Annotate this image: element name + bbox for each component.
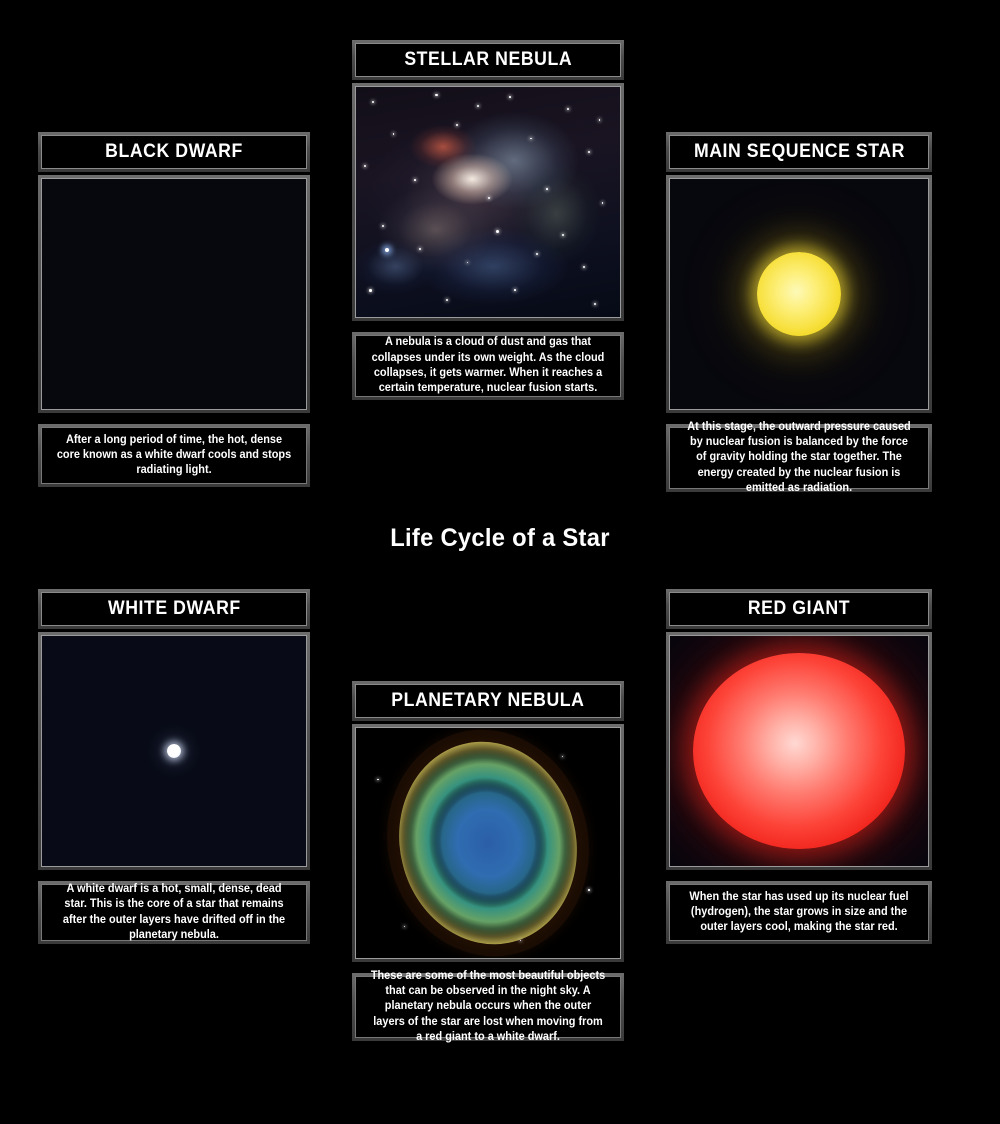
main-sequence-title-frame: MAIN SEQUENCE STAR [666,132,932,172]
white-dwarf-title-bar: WHITE DWARF [41,592,307,626]
planetary-nebula-title-frame: PLANETARY NEBULA [352,681,624,721]
planetary-nebula-artwork [355,727,621,959]
white-dwarf-art-frame [38,632,310,870]
stellar-nebula-title-bar: STELLAR NEBULA [355,43,621,77]
empty-dark-space-image [42,179,306,409]
black-dwarf-art-frame [38,175,310,413]
black-dwarf-title-bar: BLACK DWARF [41,135,307,169]
black-dwarf-title-frame: BLACK DWARF [38,132,310,172]
panel-white-dwarf[interactable]: WHITE DWARF A white dwarf is a hot, smal… [38,589,310,949]
small-white-star-image [167,744,181,758]
red-giant-title-bar: RED GIANT [669,592,929,626]
main-sequence-artwork [669,178,929,410]
red-giant-title: RED GIANT [748,598,850,620]
ring-nebula-starfield [356,728,620,958]
white-dwarf-caption: A white dwarf is a hot, small, dense, de… [56,882,292,943]
stellar-nebula-caption: A nebula is a cloud of dust and gas that… [370,335,606,396]
yellow-star-image [757,252,841,336]
black-dwarf-artwork [41,178,307,410]
stellar-nebula-caption-frame: A nebula is a cloud of dust and gas that… [352,332,624,400]
page-title: Life Cycle of a Star [25,524,975,553]
panel-black-dwarf[interactable]: BLACK DWARF After a long period of time,… [38,132,310,492]
white-dwarf-title: WHITE DWARF [108,598,241,620]
red-giant-caption: When the star has used up its nuclear fu… [684,890,914,936]
planetary-nebula-caption: These are some of the most beautiful obj… [370,969,606,1045]
panel-planetary-nebula[interactable]: PLANETARY NEBULA These are some of the m… [352,681,624,1041]
black-dwarf-caption: After a long period of time, the hot, de… [56,433,292,479]
white-dwarf-title-frame: WHITE DWARF [38,589,310,629]
white-dwarf-artwork [41,635,307,867]
ring-nebula-image [356,728,620,958]
red-giant-caption-inner: When the star has used up its nuclear fu… [669,884,929,941]
red-giant-title-frame: RED GIANT [666,589,932,629]
main-sequence-caption-inner: At this stage, the outward pressure caus… [669,427,929,489]
black-dwarf-title: BLACK DWARF [105,141,243,163]
red-giant-art-frame [666,632,932,870]
stellar-nebula-title-frame: STELLAR NEBULA [352,40,624,80]
panel-stellar-nebula[interactable]: STELLAR NEBULA [352,40,624,400]
stellar-nebula-caption-inner: A nebula is a cloud of dust and gas that… [355,335,621,397]
main-sequence-caption-frame: At this stage, the outward pressure caus… [666,424,932,492]
stellar-nebula-title: STELLAR NEBULA [404,49,572,71]
planetary-nebula-caption-frame: These are some of the most beautiful obj… [352,973,624,1041]
planetary-nebula-title-bar: PLANETARY NEBULA [355,684,621,718]
stellar-nebula-artwork [355,86,621,318]
red-giant-star-image [693,653,905,849]
stellar-nebula-art-frame [352,83,624,321]
red-giant-caption-frame: When the star has used up its nuclear fu… [666,881,932,944]
main-sequence-title-bar: MAIN SEQUENCE STAR [669,135,929,169]
white-dwarf-caption-inner: A white dwarf is a hot, small, dense, de… [41,884,307,941]
panel-red-giant[interactable]: RED GIANT When the star has used up its … [666,589,932,949]
main-sequence-art-frame [666,175,932,413]
nebula-starfield [356,87,620,317]
planetary-nebula-art-frame [352,724,624,962]
planetary-nebula-caption-inner: These are some of the most beautiful obj… [355,976,621,1038]
black-dwarf-caption-inner: After a long period of time, the hot, de… [41,427,307,484]
planetary-nebula-title: PLANETARY NEBULA [391,690,584,712]
panel-main-sequence-star[interactable]: MAIN SEQUENCE STAR At this stage, the ou… [666,132,932,492]
black-dwarf-caption-frame: After a long period of time, the hot, de… [38,424,310,487]
main-sequence-title: MAIN SEQUENCE STAR [694,141,905,163]
red-giant-artwork [669,635,929,867]
white-dwarf-caption-frame: A white dwarf is a hot, small, dense, de… [38,881,310,944]
main-sequence-caption: At this stage, the outward pressure caus… [684,420,914,496]
